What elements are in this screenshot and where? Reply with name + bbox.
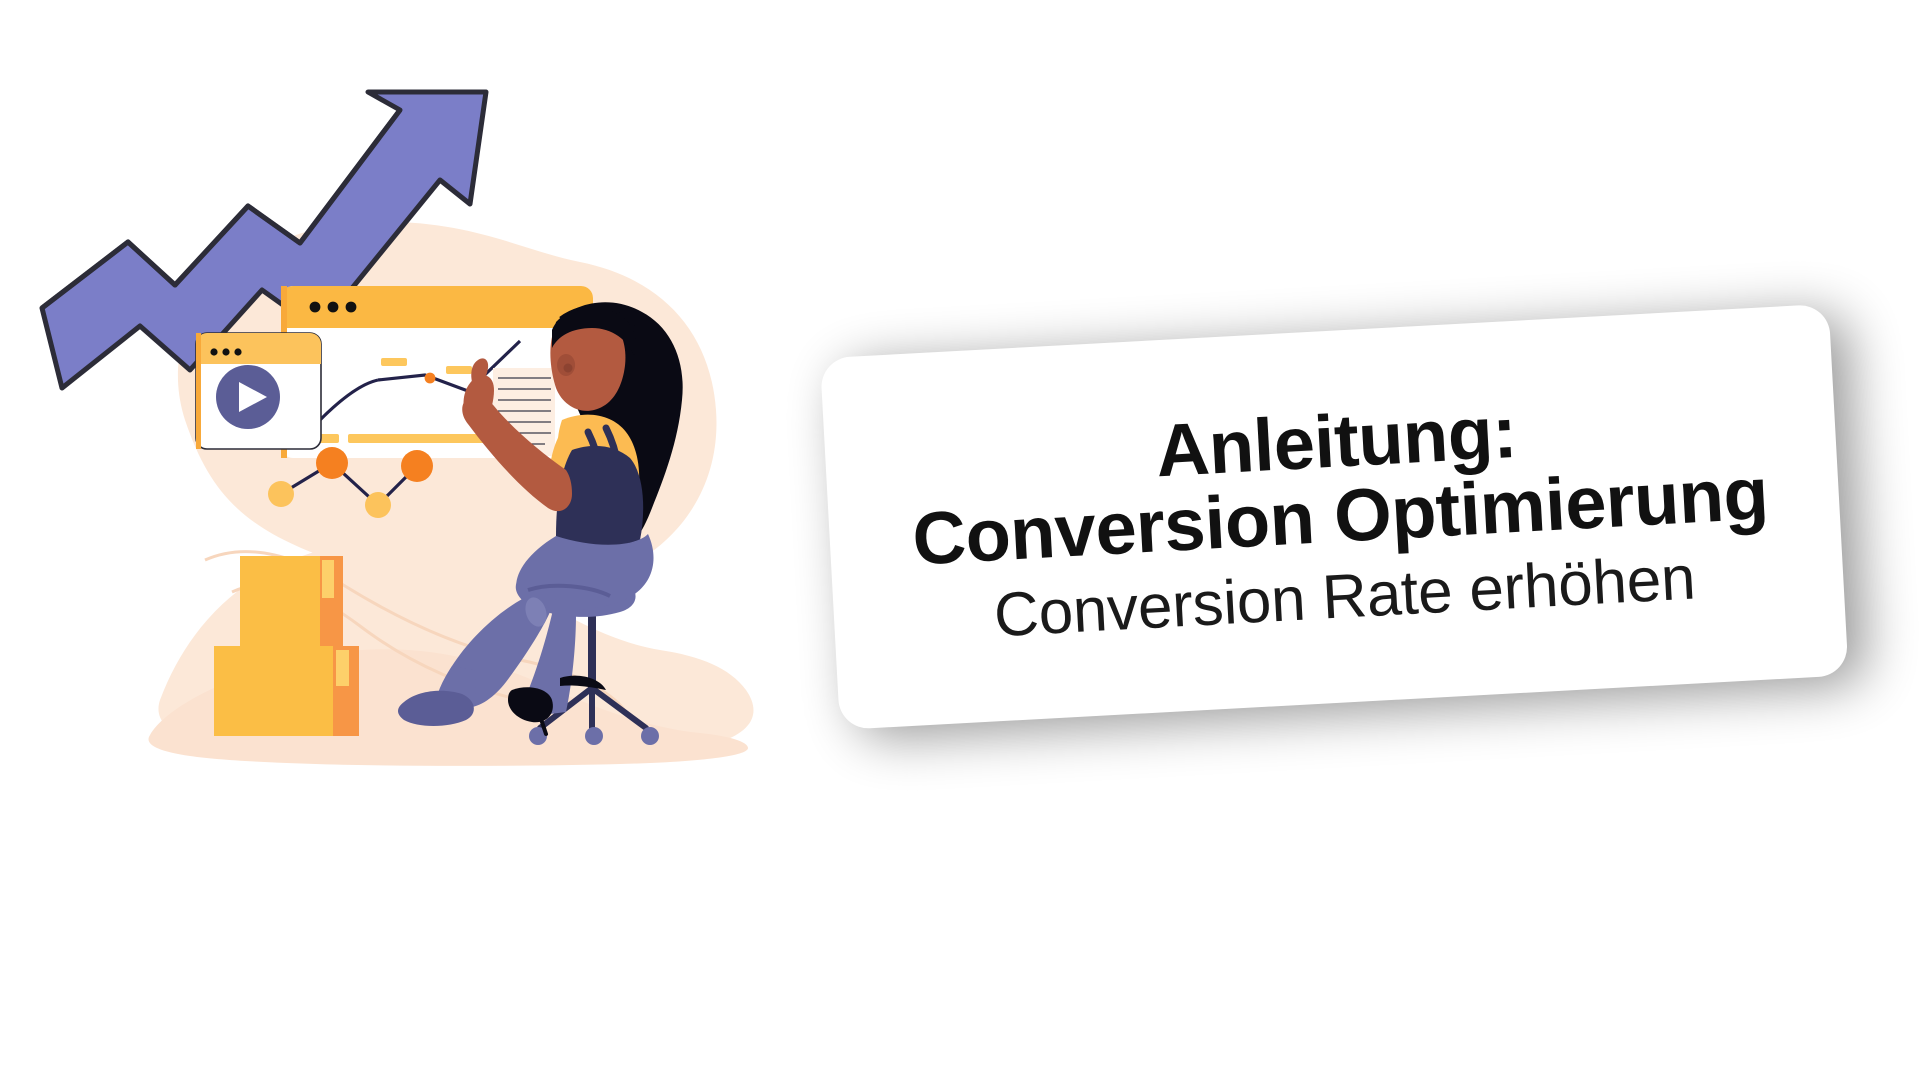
title-card: Anleitung: Conversion Optimierung Conver… [820, 302, 1880, 758]
cardboard-boxes [214, 556, 359, 736]
window-dots [310, 302, 357, 313]
window-dots [210, 348, 241, 355]
browser-window-video [196, 333, 321, 449]
play-button-icon[interactable] [216, 365, 280, 429]
hero-banner: Anleitung: Conversion Optimierung Conver… [0, 0, 1920, 1080]
card-content: Anleitung: Conversion Optimierung Conver… [824, 377, 1845, 657]
card-surface: Anleitung: Conversion Optimierung Conver… [820, 304, 1849, 730]
